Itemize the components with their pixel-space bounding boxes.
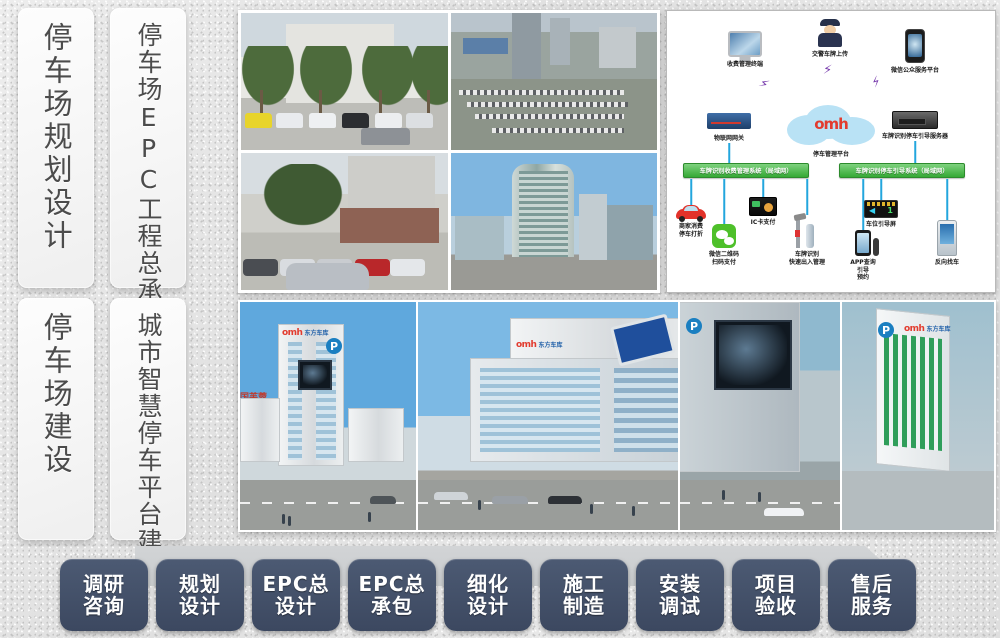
process-button-installation-commissioning[interactable]: 安装 调试 [636, 559, 724, 631]
button-line-2: 验收 [755, 595, 797, 617]
sidebar-card-parking-planning-design[interactable]: 停车场规划设计 [18, 8, 94, 288]
diagram-connector [946, 179, 948, 221]
process-button-construction-manufacturing[interactable]: 施工 制造 [540, 559, 628, 631]
button-line-1: 规划 [179, 573, 221, 595]
diagram-node-label: 物联网网关 [714, 135, 744, 143]
architectural-renders-panel: omh东方车库 P 国芙蓉 休闲 omh东方车库 [238, 300, 996, 532]
process-button-detailed-design[interactable]: 细化 设计 [444, 559, 532, 631]
diagram-connector [806, 179, 808, 215]
button-line-1: 细化 [467, 573, 509, 595]
brand-logo: omh东方车库 [516, 340, 562, 350]
diagram-node-label: 车牌识别停车引导服务器 [882, 133, 948, 141]
omh-logo: omh [814, 115, 848, 133]
sidebar-card-parking-construction[interactable]: 停车场建设 [18, 298, 94, 540]
diagram-connector [690, 179, 692, 205]
diagram-connector [914, 141, 916, 163]
guidance-screen-icon: ◀1 [864, 200, 898, 218]
diagram-connector [880, 179, 882, 201]
iot-gateway-icon [707, 113, 751, 129]
brand-logo: omh东方车库 [904, 324, 950, 334]
render-aerial-tower-garage: P omh东方车库 [842, 302, 994, 530]
brand-logo: omh东方车库 [282, 328, 328, 338]
render-tower-garage-street: omh东方车库 P 国芙蓉 休闲 [240, 302, 416, 530]
button-line-2: 咨询 [83, 595, 125, 617]
button-line-1: 调研 [83, 573, 125, 595]
system-architecture-diagram-panel: omh 停车管理平台 ⚡ ⚡ ⚡ 收费管理终端 交警车牌上传 微信公众服务平台 … [666, 10, 996, 293]
barrier-gate-icon [794, 214, 820, 248]
process-button-epc-general-design[interactable]: EPC总 设计 [252, 559, 340, 631]
diagram-center-label: 停车管理平台 [813, 151, 849, 159]
render-garage-entrance: omh东方车库 [418, 302, 678, 530]
ic-card-icon [749, 197, 777, 216]
button-line-1: 售后 [851, 573, 893, 595]
find-car-kiosk-icon [937, 220, 957, 256]
button-line-2: 设计 [179, 595, 221, 617]
diagram-canvas: omh 停车管理平台 ⚡ ⚡ ⚡ 收费管理终端 交警车牌上传 微信公众服务平台 … [667, 11, 995, 292]
diagram-connector [762, 179, 764, 199]
diagram-node-label: 交警车牌上传 [812, 51, 848, 59]
lightning-link-icon: ⚡ [756, 76, 771, 94]
sidebar-card-label: 停车场EPC工程总承包 [135, 22, 161, 331]
diagram-node-label: 微信公众服务平台 [891, 67, 939, 75]
diagram-connector [723, 179, 725, 225]
process-button-after-sales-service[interactable]: 售后 服务 [828, 559, 916, 631]
button-line-2: 承包 [371, 595, 413, 617]
diagram-node-label: 收费管理终端 [727, 61, 763, 69]
parking-sign-icon: P [878, 322, 894, 338]
render-led-billboard-facade: P [680, 302, 840, 530]
button-line-1: EPC总 [359, 573, 426, 595]
process-button-project-acceptance[interactable]: 项目 验收 [732, 559, 820, 631]
sidebar-card-parking-epc-contracting[interactable]: 停车场EPC工程总承包 [110, 8, 186, 288]
sidebar-card-smart-city-parking-platform[interactable]: 城市智慧停车平台建设 [110, 298, 186, 540]
button-line-1: 施工 [563, 573, 605, 595]
diagram-node-label: IC卡支付 [751, 219, 776, 227]
police-officer-icon [817, 19, 843, 47]
button-line-2: 服务 [851, 595, 893, 617]
render-facade-glass [884, 333, 942, 451]
photo-grid [241, 13, 657, 290]
render-strip: omh东方车库 P 国芙蓉 休闲 omh东方车库 [240, 302, 994, 530]
button-line-1: EPC总 [263, 573, 330, 595]
button-line-2: 制造 [563, 595, 605, 617]
photo-glass-office-tower [451, 153, 658, 290]
diagram-node-label: 微信二维码扫码支付 [697, 251, 751, 266]
system-bar-parking-guidance: 车牌识别停车引导系统（局域网） [839, 163, 965, 178]
button-line-2: 设计 [275, 595, 317, 617]
button-line-1: 安装 [659, 573, 701, 595]
process-button-research-consulting[interactable]: 调研 咨询 [60, 559, 148, 631]
app-phone-icon [855, 230, 871, 256]
diagram-node-label: 商家消费停车打折 [664, 223, 718, 238]
sidebar-card-label: 城市智慧停车平台建设 [135, 312, 161, 582]
wechat-icon [712, 224, 736, 248]
red-car-icon [676, 204, 706, 222]
photo-collage-panel [238, 10, 660, 293]
smartphone-icon [905, 29, 925, 63]
button-line-1: 项目 [755, 573, 797, 595]
lightning-link-icon: ⚡ [822, 63, 832, 79]
process-button-row: 调研 咨询 规划 设计 EPC总 设计 EPC总 承包 细化 设计 施工 制造 … [60, 559, 1000, 633]
process-button-epc-general-contracting[interactable]: EPC总 承包 [348, 559, 436, 631]
server-icon [892, 111, 938, 129]
diagram-node-label: 车位引导屏 [866, 221, 896, 229]
process-button-planning-design[interactable]: 规划 设计 [156, 559, 244, 631]
photo-surface-lot-trees [241, 13, 448, 150]
button-line-2: 设计 [467, 595, 509, 617]
photo-lot-brick-building [241, 153, 448, 290]
monitor-icon [728, 31, 762, 57]
sidebar-card-label: 停车场建设 [41, 312, 71, 477]
photo-aerial-parking-lot [451, 13, 658, 150]
diagram-node-label: APP查询引导预约 [836, 259, 890, 282]
parking-sign-icon: P [686, 318, 702, 334]
button-line-2: 调试 [659, 595, 701, 617]
system-bar-toll-management: 车牌识别收费管理系统（局域网） [683, 163, 809, 178]
diagram-node-label: 车牌识别快速出入管理 [780, 251, 834, 266]
diagram-connector [728, 143, 730, 163]
parking-sign-icon: P [326, 338, 342, 354]
sidebar-card-label: 停车场规划设计 [41, 22, 71, 253]
cloud-platform-icon: omh [783, 103, 879, 147]
lightning-link-icon: ⚡ [869, 74, 884, 92]
diagram-node-label: 反向找车 [935, 259, 959, 267]
